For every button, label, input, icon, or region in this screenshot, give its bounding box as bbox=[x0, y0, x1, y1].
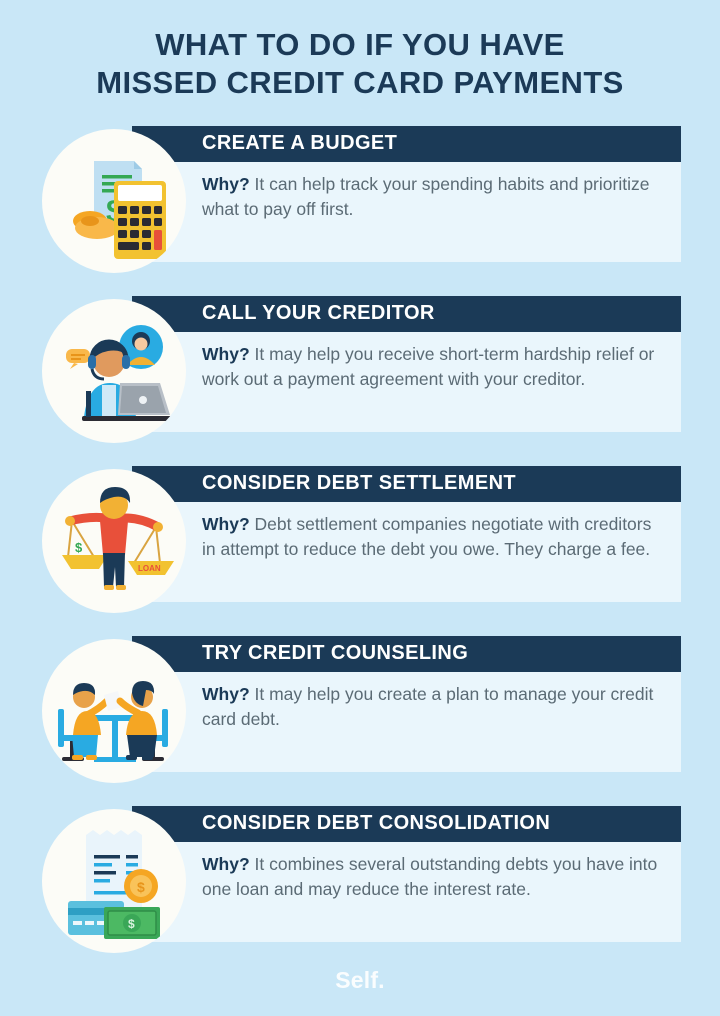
list-item: CONSIDER DEBT SETTLEMENT Why? Debt settl… bbox=[0, 466, 720, 623]
tip-text: Why? It may help you receive short-term … bbox=[202, 342, 665, 392]
tip-heading: CALL YOUR CREDITOR bbox=[202, 302, 435, 325]
why-label: Why? bbox=[202, 514, 250, 534]
list-item: CREATE A BUDGET Why? It can help track y… bbox=[0, 126, 720, 283]
svg-text:$: $ bbox=[75, 540, 83, 555]
call-center-agent-icon bbox=[42, 299, 186, 443]
why-label: Why? bbox=[202, 684, 250, 704]
budget-calculator-icon: $ bbox=[42, 129, 186, 273]
why-label: Why? bbox=[202, 344, 250, 364]
balance-scales-person-icon: $ LOAN bbox=[42, 469, 186, 613]
svg-text:$: $ bbox=[137, 879, 145, 895]
tip-card-body: Why? It may help you create a plan to ma… bbox=[132, 672, 681, 772]
page-title-line-1: WHAT TO DO IF YOU HAVE bbox=[26, 26, 694, 64]
tip-heading: TRY CREDIT COUNSELING bbox=[202, 642, 468, 665]
tip-card: CONSIDER DEBT SETTLEMENT Why? Debt settl… bbox=[132, 466, 681, 602]
tip-description: It can help track your spending habits a… bbox=[202, 174, 649, 219]
tip-card-header: CREATE A BUDGET bbox=[132, 126, 681, 162]
tip-text: Why? Debt settlement companies negotiate… bbox=[202, 512, 665, 562]
tip-card-body: Why? It can help track your spending hab… bbox=[132, 162, 681, 262]
receipt-card-cash-icon: $ $ bbox=[42, 809, 186, 953]
svg-text:LOAN: LOAN bbox=[138, 564, 161, 573]
why-label: Why? bbox=[202, 174, 250, 194]
tip-description: Debt settlement companies negotiate with… bbox=[202, 514, 651, 559]
tip-heading: CREATE A BUDGET bbox=[202, 132, 397, 155]
counseling-meeting-icon bbox=[42, 639, 186, 783]
svg-text:$: $ bbox=[128, 917, 135, 931]
page-title-line-2: MISSED CREDIT CARD PAYMENTS bbox=[26, 64, 694, 102]
tip-text: Why? It can help track your spending hab… bbox=[202, 172, 665, 222]
tip-heading: CONSIDER DEBT CONSOLIDATION bbox=[202, 812, 550, 835]
tip-card: CONSIDER DEBT CONSOLIDATION Why? It comb… bbox=[132, 806, 681, 942]
tip-card: TRY CREDIT COUNSELING Why? It may help y… bbox=[132, 636, 681, 772]
tip-heading: CONSIDER DEBT SETTLEMENT bbox=[202, 472, 516, 495]
tip-description: It may help you create a plan to manage … bbox=[202, 684, 653, 729]
tip-card-header: CONSIDER DEBT CONSOLIDATION bbox=[132, 806, 681, 842]
tip-description: It combines several outstanding debts yo… bbox=[202, 854, 657, 899]
tip-card-header: CONSIDER DEBT SETTLEMENT bbox=[132, 466, 681, 502]
tip-description: It may help you receive short-term hards… bbox=[202, 344, 654, 389]
tips-list: CREATE A BUDGET Why? It can help track y… bbox=[0, 126, 720, 963]
tip-card: CREATE A BUDGET Why? It can help track y… bbox=[132, 126, 681, 262]
list-item: CONSIDER DEBT CONSOLIDATION Why? It comb… bbox=[0, 806, 720, 963]
tip-card-body: Why? It may help you receive short-term … bbox=[132, 332, 681, 432]
tip-card-header: TRY CREDIT COUNSELING bbox=[132, 636, 681, 672]
footer: Self. bbox=[0, 967, 720, 994]
tip-text: Why? It may help you create a plan to ma… bbox=[202, 682, 665, 732]
self-logo: Self. bbox=[335, 967, 385, 993]
tip-text: Why? It combines several outstanding deb… bbox=[202, 852, 665, 902]
tip-card-header: CALL YOUR CREDITOR bbox=[132, 296, 681, 332]
tip-card-body: Why? It combines several outstanding deb… bbox=[132, 842, 681, 942]
why-label: Why? bbox=[202, 854, 250, 874]
list-item: TRY CREDIT COUNSELING Why? It may help y… bbox=[0, 636, 720, 793]
tip-card: CALL YOUR CREDITOR Why? It may help you … bbox=[132, 296, 681, 432]
list-item: CALL YOUR CREDITOR Why? It may help you … bbox=[0, 296, 720, 453]
tip-card-body: Why? Debt settlement companies negotiate… bbox=[132, 502, 681, 602]
page-title: WHAT TO DO IF YOU HAVE MISSED CREDIT CAR… bbox=[0, 0, 720, 102]
